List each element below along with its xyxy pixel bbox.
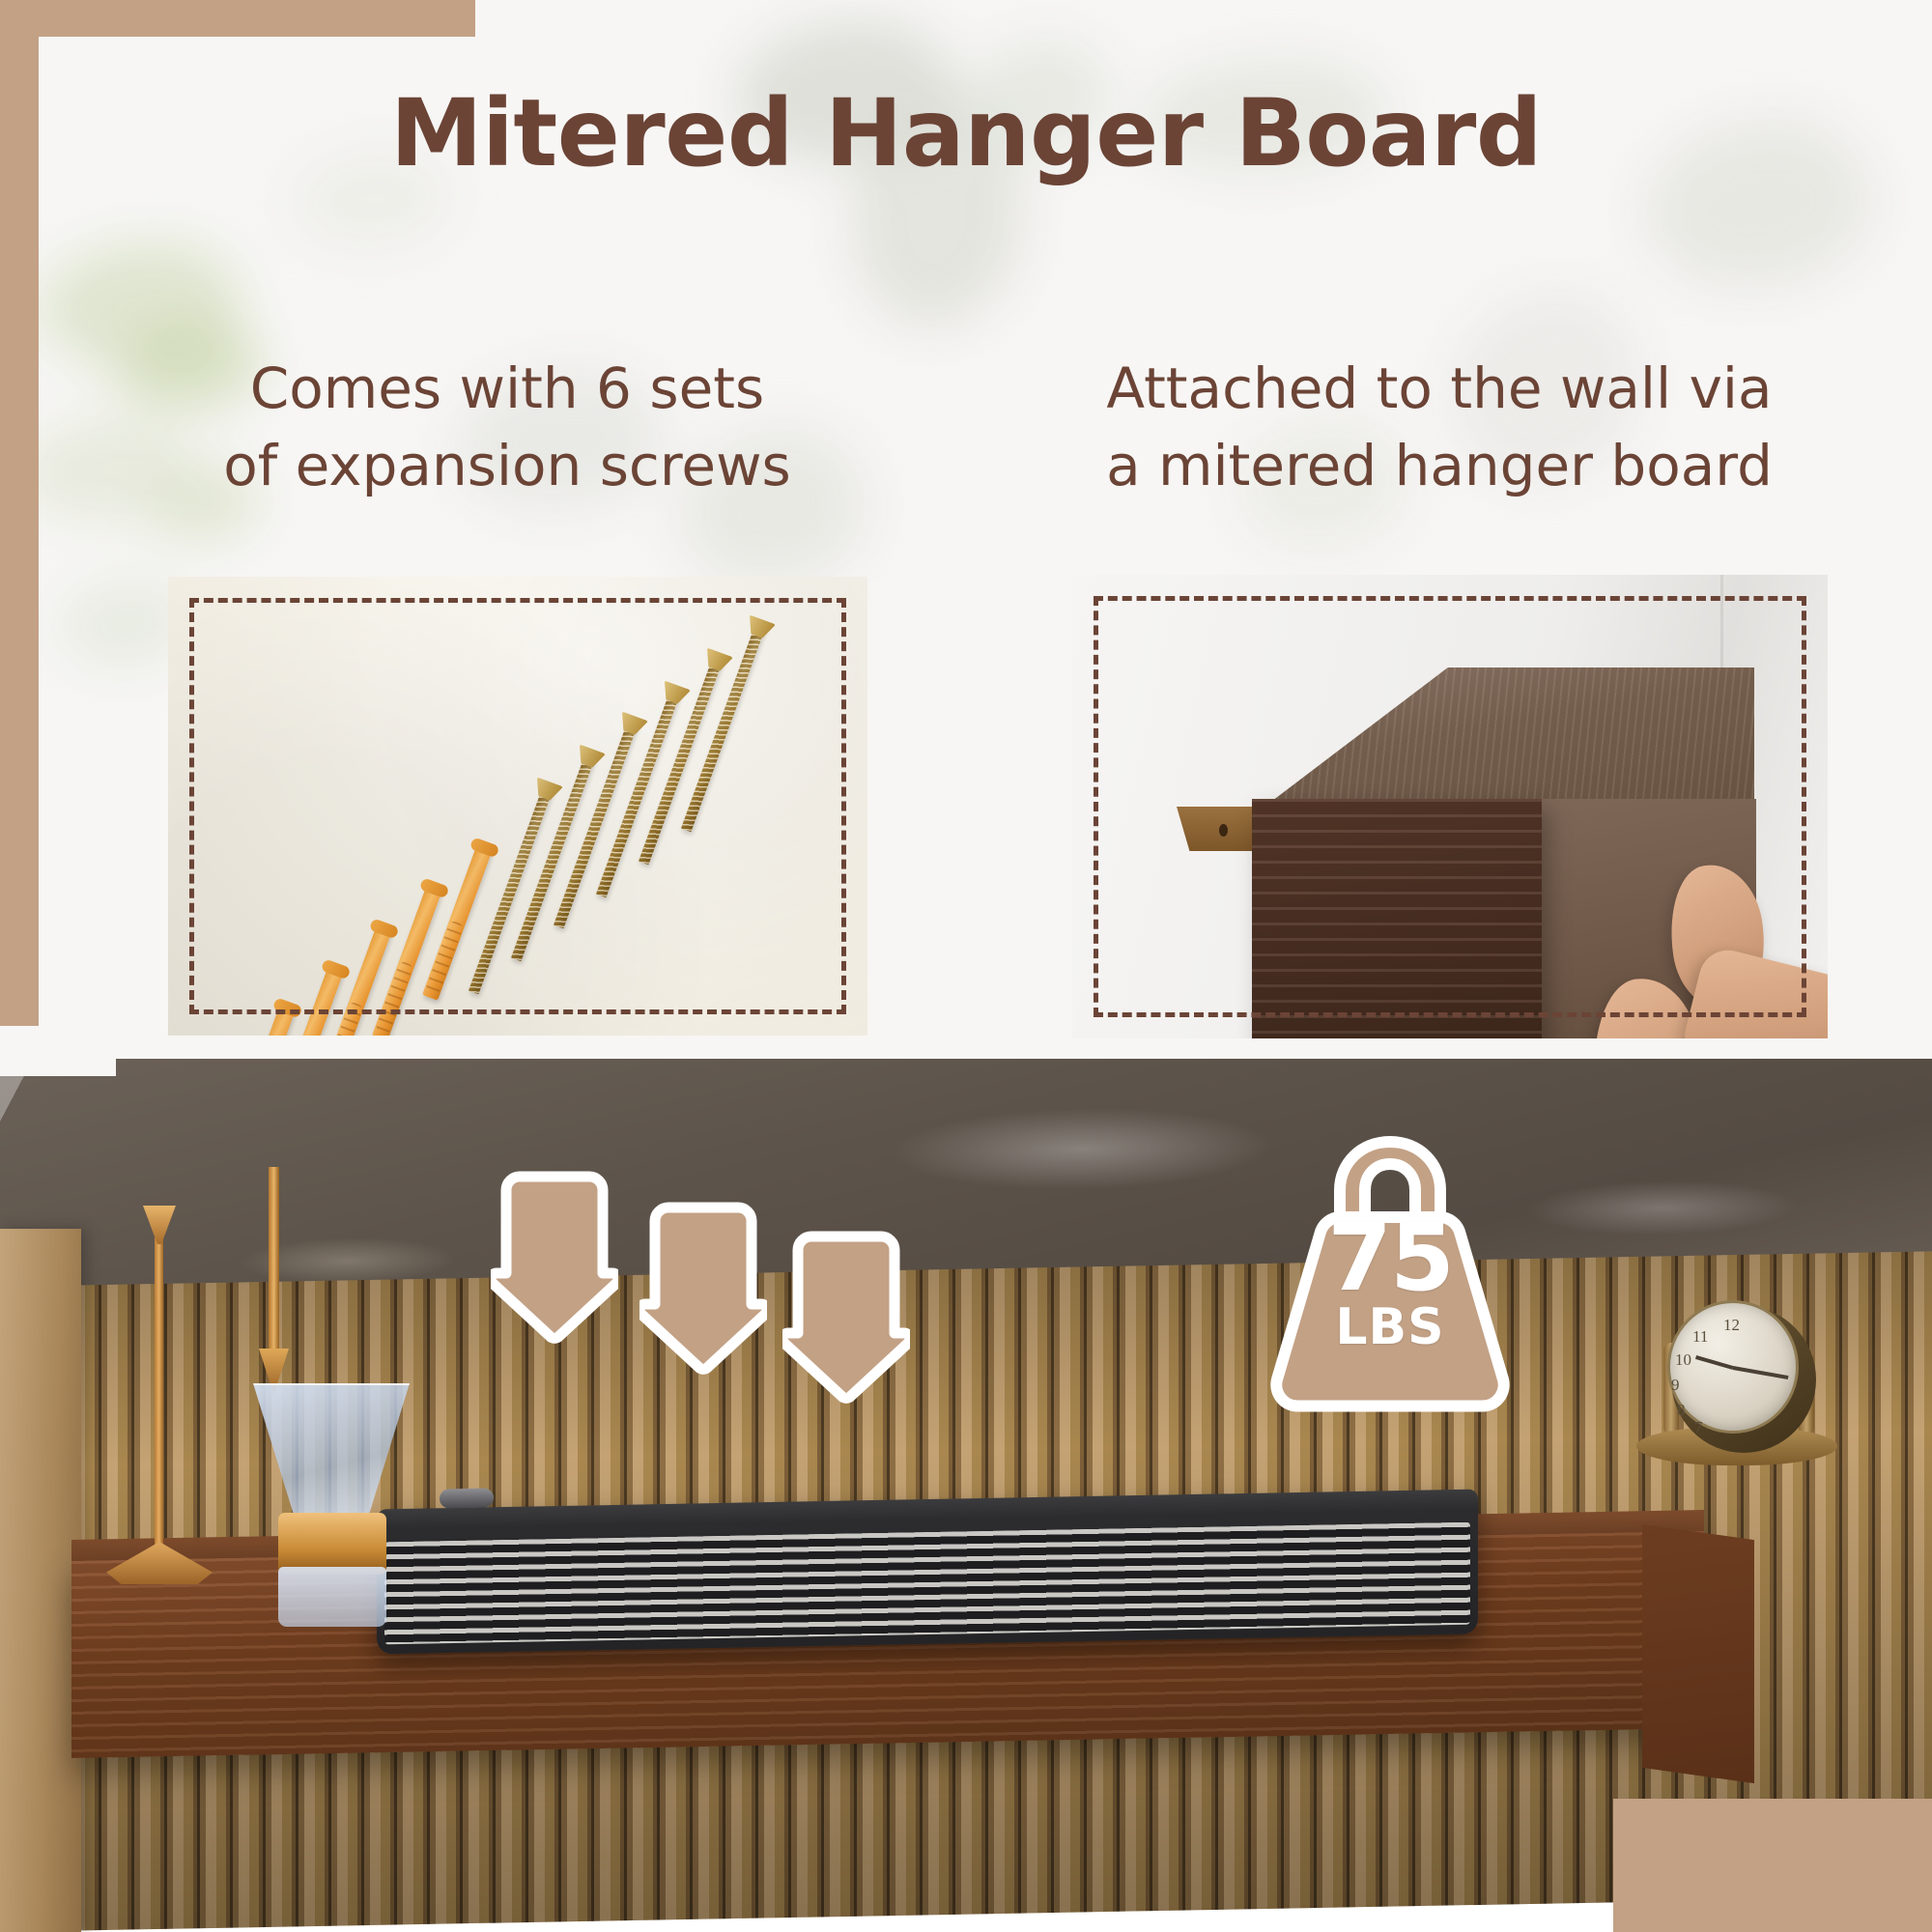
- candle-holder-stem: [155, 1213, 163, 1571]
- weight-value: 75: [1242, 1204, 1538, 1312]
- feature-caption-screws: Comes with 6 sets of expansion screws: [126, 350, 889, 504]
- left-wall-panel: [0, 1229, 81, 1932]
- weight-capacity-badge: 75 LBS: [1242, 1121, 1538, 1420]
- caption-line-2: a mitered hanger board: [1000, 427, 1879, 504]
- clock-numeral-11: 11: [1692, 1327, 1708, 1347]
- soundbar: [377, 1490, 1478, 1655]
- floating-shelf-end-cap: [1642, 1524, 1754, 1783]
- load-arrow-1: [491, 1169, 618, 1345]
- info-section: Mitered Hanger Board Comes with 6 sets o…: [0, 0, 1932, 1059]
- screws-photo: [168, 577, 867, 1036]
- caption-line-1: Comes with 6 sets: [126, 350, 889, 427]
- photo-panel-expansion-screws: [168, 577, 867, 1036]
- second-candle-stem: [269, 1167, 279, 1378]
- page-title: Mitered Hanger Board: [0, 85, 1932, 183]
- photo-panel-hanger-board: [1072, 575, 1828, 1038]
- clock-numeral-9: 9: [1671, 1376, 1680, 1395]
- shelf-beam-top-face: [1252, 668, 1754, 816]
- hanger-cleat: [1177, 807, 1258, 851]
- hanger-photo: [1072, 575, 1828, 1038]
- clock-numeral-12: 12: [1723, 1316, 1740, 1335]
- caption-line-2: of expansion screws: [126, 427, 889, 504]
- feature-caption-hanger: Attached to the wall via a mitered hange…: [1000, 350, 1879, 504]
- load-arrow-3: [782, 1229, 910, 1405]
- shelf-beam-front-face: [1252, 799, 1542, 1038]
- glass-vase-gold-band: [278, 1513, 386, 1575]
- clock-numeral-8: 8: [1677, 1401, 1686, 1420]
- caption-line-1: Attached to the wall via: [1000, 350, 1879, 427]
- weight-unit: LBS: [1242, 1298, 1538, 1356]
- infographic-canvas: Mitered Hanger Board Comes with 6 sets o…: [0, 0, 1932, 1932]
- clock-numeral-10: 10: [1675, 1350, 1691, 1370]
- corner-accent-top: [0, 0, 475, 37]
- load-arrow-2: [639, 1200, 767, 1376]
- glass-vase-base: [278, 1567, 386, 1627]
- corner-accent-bottom-right: [1613, 1799, 1932, 1932]
- panel-skirt: [0, 1026, 116, 1076]
- clock-numeral-7: 7: [1694, 1418, 1703, 1437]
- soundbar-knob: [440, 1488, 494, 1508]
- cleat-screw-hole: [1219, 824, 1228, 837]
